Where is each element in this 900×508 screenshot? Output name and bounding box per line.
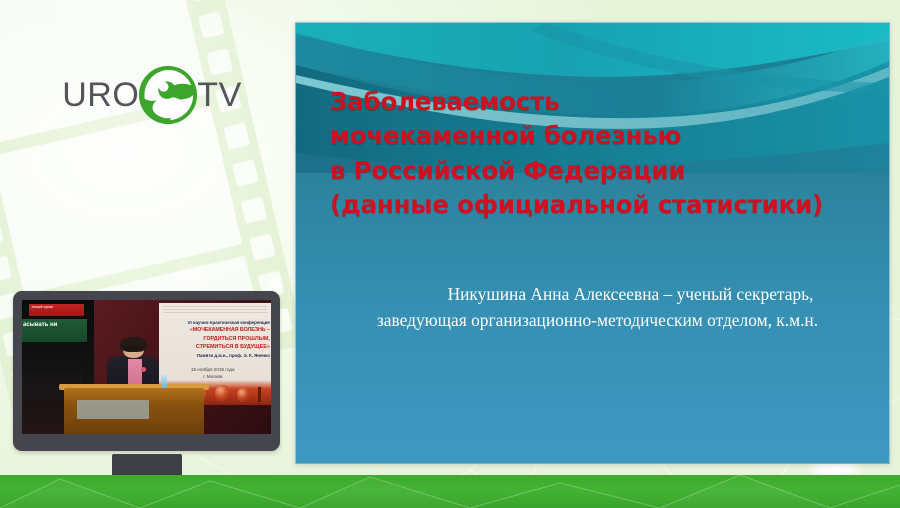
- banner-title-line1: «МОЧЕКАМЕННАЯ БОЛЕЗНЬ –: [161, 327, 270, 333]
- monitor-frame: асывать ни льный орган VI научно-практич…: [13, 291, 280, 451]
- video-red-banner-text: льный орган: [29, 304, 84, 310]
- conference-video-still: асывать ни льный орган VI научно-практич…: [22, 300, 271, 434]
- banner-title-line2: ГОРДИТЬСЯ ПРОШЛЫМ,: [161, 336, 270, 342]
- green-band-pattern: [0, 475, 900, 508]
- banner-memorial: Памяти д.м.н., проф. Э. К. Яненко: [161, 353, 270, 358]
- slide-title-line-3: в Российской Федерации: [330, 154, 869, 188]
- bottom-green-band: [0, 475, 900, 508]
- logo-text-uro: URO: [62, 78, 139, 112]
- urotv-logo: URO TV: [62, 58, 242, 132]
- slide-subtitle-line-2: заведующая организационно-методическим о…: [316, 307, 867, 333]
- speaker-glasses-icon: [124, 346, 143, 349]
- banner-date: 15 ноября 2019 года: [161, 367, 264, 372]
- slide-title-line-4: (данные официальной статистики): [330, 188, 869, 222]
- speaker-brooch: [141, 367, 146, 372]
- urotv-aperture-icon: [137, 64, 199, 126]
- slide-title-line-1: Заболеваемость: [330, 85, 869, 119]
- slide-subtitle: Никушина Анна Алексеевна – ученый секрет…: [316, 281, 867, 334]
- video-green-slide: асывать ни: [22, 319, 87, 342]
- logo-text-tv: TV: [197, 78, 241, 112]
- podium: [64, 388, 203, 434]
- slide-title: Заболеваемость мочекаменной болезнью в Р…: [330, 85, 869, 222]
- video-preview-monitor[interactable]: асывать ни льный орган VI научно-практич…: [13, 291, 280, 496]
- slide-title-line-2: мочекаменной болезнью: [330, 119, 869, 153]
- video-green-slide-text: асывать ни: [22, 319, 87, 329]
- slide-frame: URO TV асывать ни: [0, 0, 900, 508]
- water-bottle: [161, 375, 166, 388]
- slide-subtitle-line-1: Никушина Анна Алексеевна – ученый секрет…: [316, 281, 867, 307]
- monitor-screen[interactable]: асывать ни льный орган VI научно-практич…: [22, 300, 271, 434]
- banner-subheading: VI научно-практическая конференция: [162, 320, 270, 325]
- banner-city: г. Москва: [161, 374, 264, 379]
- banner-title-line3: СТРЕМИТЬСЯ В БУДУЩЕЕ»: [161, 344, 270, 350]
- video-red-banner: льный орган: [29, 304, 84, 316]
- presentation-slide[interactable]: Заболеваемость мочекаменной болезнью в Р…: [295, 22, 890, 464]
